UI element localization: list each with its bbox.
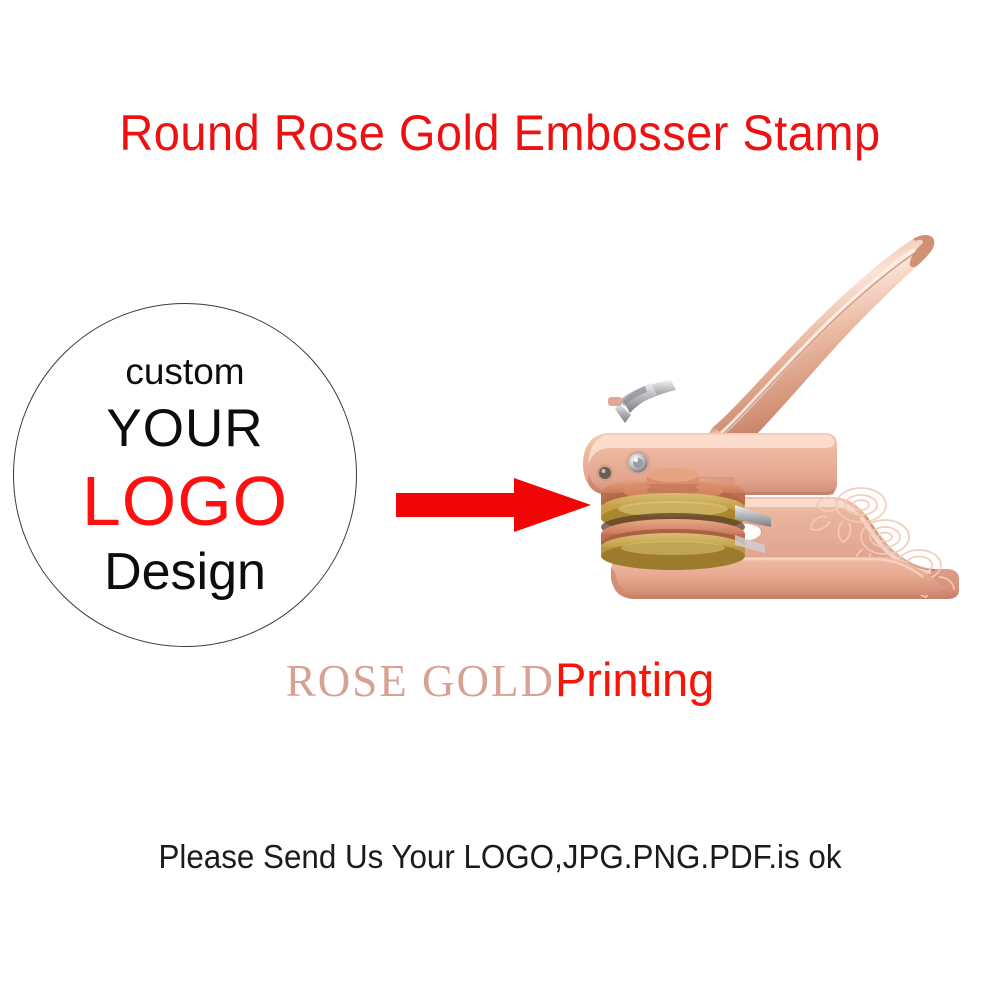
spring-clip — [608, 380, 676, 423]
page-title: Round Rose Gold Embosser Stamp — [30, 104, 970, 162]
product-image-canvas: Round Rose Gold Embosser Stamp custom YO… — [0, 0, 1000, 1000]
printing-label: Printing — [555, 653, 714, 706]
lever-handle — [712, 235, 934, 454]
footer-instruction: Please Send Us Your LOGO,JPG.PNG.PDF.is … — [25, 838, 975, 876]
logo-line-design: Design — [104, 546, 266, 598]
rose-gold-caption: ROSE GOLDPrinting — [0, 656, 1000, 704]
logo-line-logo: LOGO — [82, 466, 288, 536]
logo-line-your: YOUR — [106, 402, 263, 455]
embosser-stamp-illustration — [575, 205, 995, 610]
logo-preview-text-stack: custom YOUR LOGO Design — [13, 303, 357, 647]
rose-gold-label: ROSE GOLD — [286, 656, 555, 706]
arrow-right-icon — [396, 478, 591, 532]
logo-line-custom: custom — [125, 353, 244, 390]
